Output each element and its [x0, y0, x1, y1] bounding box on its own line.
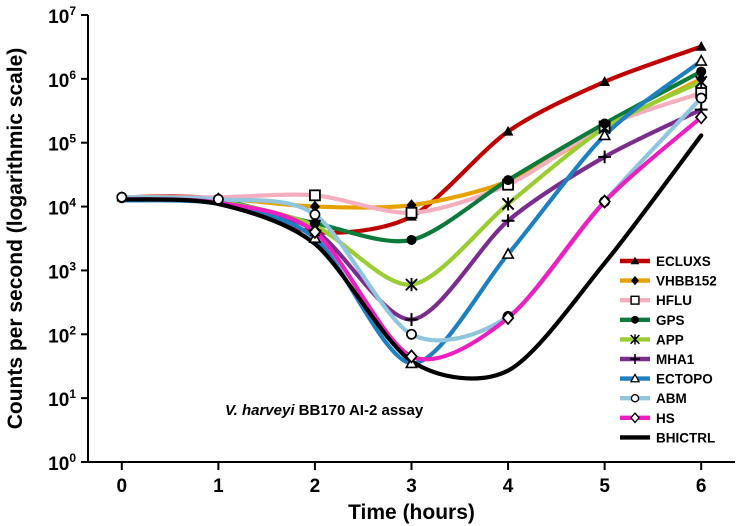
data-point-marker	[503, 175, 513, 185]
x-tick-label-text: 4	[503, 476, 514, 497]
data-point-marker	[697, 93, 706, 102]
x-tick-label-text: 6	[696, 476, 707, 497]
circle-filled-icon	[407, 235, 417, 245]
x-tick-label-text: 5	[599, 476, 610, 497]
legend-item-label: MHA1	[656, 352, 695, 367]
legend-item-label: BHICTRL	[656, 430, 715, 445]
y-tick-label: 100	[48, 451, 76, 475]
chart-annotation: V. harveyi BB170 AI-2 assay	[225, 402, 424, 419]
x-tick-label-text: 2	[310, 476, 321, 497]
data-point-marker	[502, 197, 513, 210]
y-tick-label-text: 101	[48, 387, 76, 411]
y-tick-label-text: 105	[48, 132, 76, 156]
data-point-marker	[407, 235, 417, 245]
y-tick-label-text: 104	[48, 196, 76, 220]
data-point-marker	[630, 354, 640, 364]
legend-item-ecluxs[interactable]: ECLUXS	[620, 254, 711, 269]
y-tick-label: 105	[48, 132, 76, 156]
series-line	[122, 135, 701, 378]
y-tick-label-text: 106	[48, 68, 76, 92]
square-open-icon	[407, 208, 417, 218]
line-chart: 1001011021031041051061070123456Time (hou…	[0, 0, 750, 526]
legend: ECLUXSVHBB152HFLUGPSAPPMHA1ECTOPOABMHSBH…	[620, 254, 717, 445]
circle-open-icon	[631, 395, 638, 402]
circle-open-icon	[117, 193, 126, 202]
data-point-marker	[117, 193, 126, 202]
legend-item-label: ECTOPO	[656, 372, 713, 387]
y-tick-label: 102	[48, 323, 76, 347]
diamond-open-icon	[631, 413, 639, 422]
square-open-icon	[310, 190, 320, 200]
legend-item-vhbb152[interactable]: VHBB152	[620, 274, 717, 289]
chart-container: 1001011021031041051061070123456Time (hou…	[0, 0, 750, 526]
legend-item-ectopo[interactable]: ECTOPO	[620, 372, 713, 387]
y-tick-label-text: 102	[48, 323, 76, 347]
data-point-marker	[696, 67, 706, 77]
y-axis-ticks: 100101102103104105106107	[48, 4, 88, 475]
triangle-open-icon	[696, 56, 706, 65]
data-point-marker	[214, 195, 223, 204]
y-tick-label: 101	[48, 387, 76, 411]
y-tick-label-text: 100	[48, 451, 76, 475]
x-axis-title: Time (hours)	[348, 501, 475, 524]
circle-filled-icon	[696, 67, 706, 77]
legend-item-mha1[interactable]: MHA1	[620, 352, 695, 367]
data-point-marker	[631, 395, 638, 402]
data-point-marker	[310, 190, 320, 200]
data-point-marker	[631, 296, 639, 304]
x-tick-label-text: 0	[117, 476, 128, 497]
y-tick-label-text: 107	[48, 4, 76, 28]
legend-item-label: ABM	[656, 391, 687, 406]
data-point-marker	[631, 413, 639, 422]
legend-item-hs[interactable]: HS	[620, 411, 675, 426]
circle-open-icon	[407, 330, 416, 339]
x-tick-label-text: 1	[213, 476, 224, 497]
data-point-marker	[631, 316, 639, 324]
data-point-marker	[407, 208, 417, 218]
legend-item-app[interactable]: APP	[620, 332, 684, 347]
y-tick-label: 104	[48, 196, 76, 220]
data-point-marker	[310, 210, 319, 219]
circle-open-icon	[214, 195, 223, 204]
legend-item-gps[interactable]: GPS	[620, 313, 685, 328]
circle-filled-icon	[631, 316, 639, 324]
legend-item-label: HFLU	[656, 293, 692, 308]
legend-item-label: HS	[656, 411, 675, 426]
series-bhictrl[interactable]	[122, 135, 701, 378]
legend-item-bhictrl[interactable]: BHICTRL	[620, 430, 715, 445]
y-tick-label-text: 103	[48, 259, 76, 283]
square-open-icon	[631, 296, 639, 304]
data-point-marker	[696, 56, 706, 65]
legend-item-hflu[interactable]: HFLU	[620, 293, 692, 308]
series-layer	[116, 41, 707, 378]
circle-open-icon	[697, 93, 706, 102]
legend-item-abm[interactable]: ABM	[620, 391, 687, 406]
circle-filled-icon	[503, 175, 513, 185]
data-point-marker	[631, 276, 639, 285]
legend-item-label: GPS	[656, 313, 685, 328]
legend-item-label: APP	[656, 332, 684, 347]
data-point-marker	[407, 330, 416, 339]
y-tick-label: 107	[48, 4, 76, 28]
y-axis-title: Counts per second (logarithmic scale)	[4, 48, 27, 430]
circle-open-icon	[310, 210, 319, 219]
series-markers-vhbb152	[117, 73, 706, 213]
y-tick-label: 103	[48, 259, 76, 283]
diamond-filled-icon	[631, 276, 639, 285]
x-tick-label-text: 3	[406, 476, 417, 497]
data-point-marker	[405, 313, 418, 326]
legend-item-label: ECLUXS	[656, 254, 711, 269]
legend-item-label: VHBB152	[656, 274, 717, 289]
y-tick-label: 106	[48, 68, 76, 92]
x-axis-ticks: 0123456	[117, 462, 707, 497]
